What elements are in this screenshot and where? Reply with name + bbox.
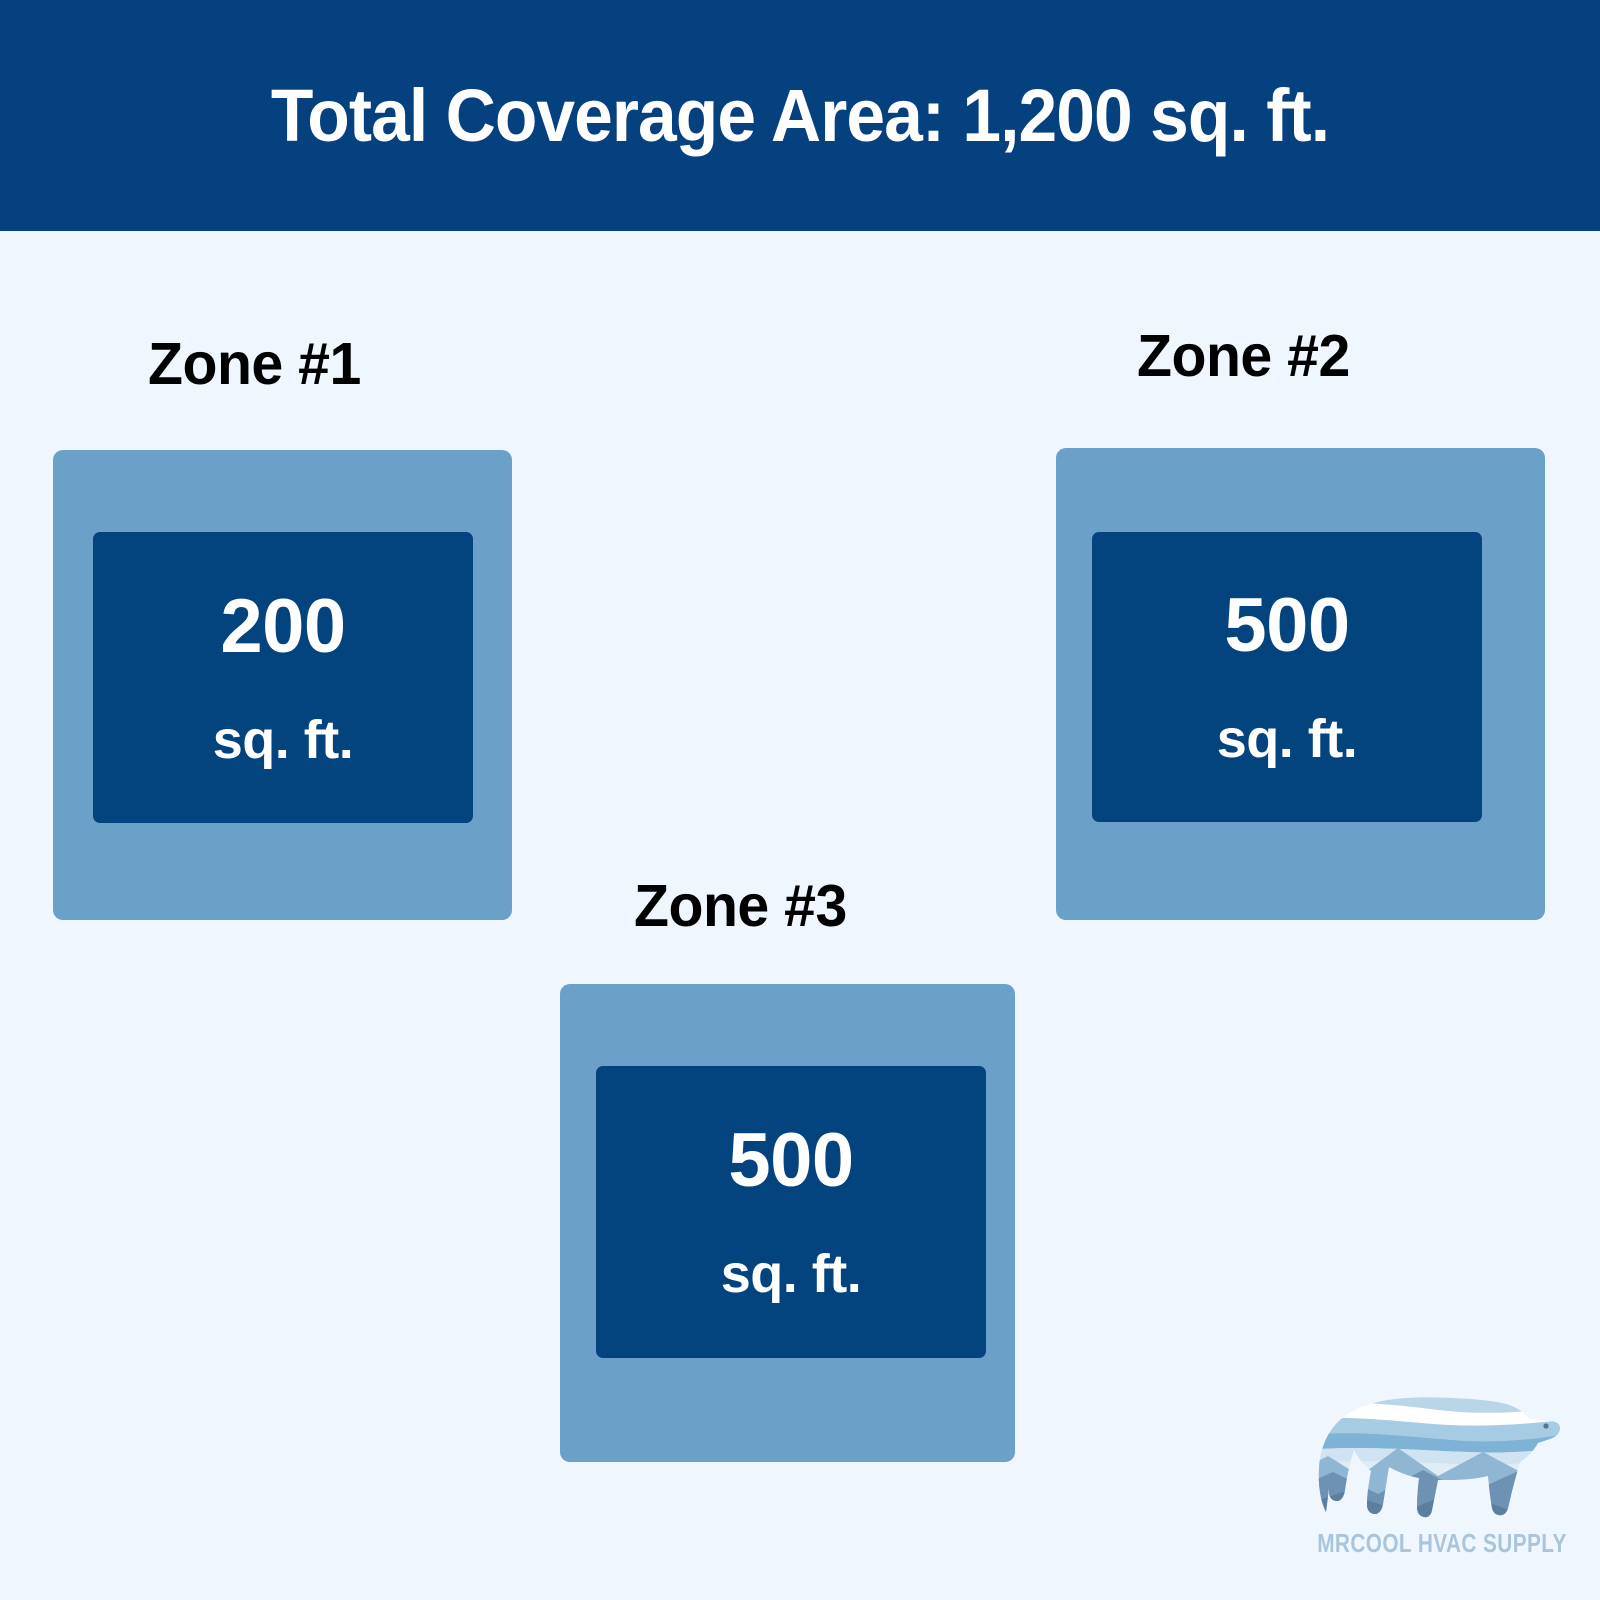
- header-banner: Total Coverage Area: 1,200 sq. ft.: [0, 0, 1600, 231]
- zone-2-inner-area[interactable]: 500 sq. ft.: [1092, 532, 1482, 822]
- zone-1-inner-area[interactable]: 200 sq. ft.: [93, 532, 473, 823]
- zone-1-value: 200: [220, 589, 345, 665]
- zone-2-outer-area[interactable]: 500 sq. ft.: [1056, 448, 1545, 920]
- zone-3-inner-area[interactable]: 500 sq. ft.: [596, 1066, 986, 1358]
- zone-1-label: Zone #1: [148, 330, 361, 398]
- zone-3-label: Zone #3: [634, 872, 847, 940]
- brand-logo: MRCOOL HVAC SUPPLY: [1288, 1364, 1580, 1576]
- polar-bear-icon: [1288, 1364, 1580, 1532]
- zone-3-outer-area[interactable]: 500 sq. ft.: [560, 984, 1015, 1462]
- logo-wordmark: MRCOOL HVAC SUPPLY: [1317, 1528, 1551, 1559]
- zone-3-unit: sq. ft.: [721, 1247, 862, 1301]
- zone-1-outer-area[interactable]: 200 sq. ft.: [53, 450, 512, 920]
- zone-2-value: 500: [1224, 588, 1349, 664]
- zone-3-value: 500: [728, 1123, 853, 1199]
- zone-1-unit: sq. ft.: [213, 713, 354, 767]
- zone-2-label: Zone #2: [1137, 322, 1350, 390]
- page-title: Total Coverage Area: 1,200 sq. ft.: [48, 0, 1552, 231]
- zone-2-unit: sq. ft.: [1217, 712, 1358, 766]
